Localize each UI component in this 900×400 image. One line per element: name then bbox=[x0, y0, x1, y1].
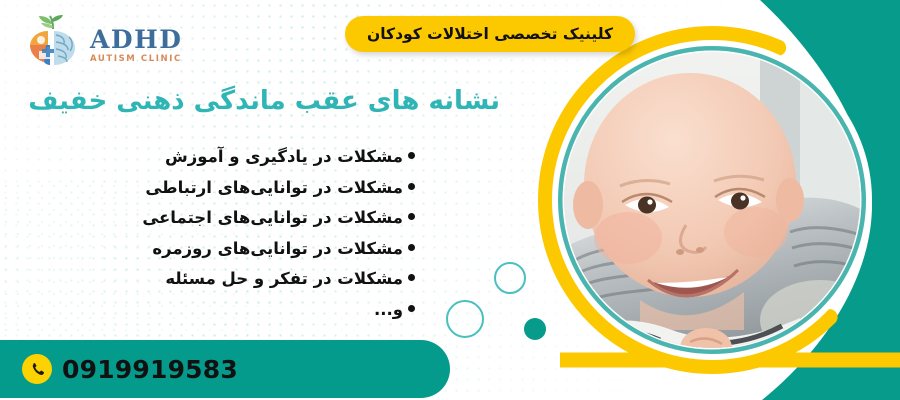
bullet-dot-icon bbox=[408, 213, 415, 220]
white-ring bbox=[555, 43, 869, 357]
brain-puzzle-sprout-icon bbox=[22, 15, 84, 75]
page-title: نشانه های عقب ماندگی ذهنی خفیف bbox=[28, 86, 500, 116]
list-item-label: مشکلات در تفکر و حل مسئله bbox=[165, 269, 403, 288]
list-item: مشکلات در یادگیری و آموزش bbox=[95, 142, 415, 173]
decorative-ring-large bbox=[446, 300, 484, 338]
phone-handset-icon bbox=[22, 354, 52, 384]
logo-title: ADHD bbox=[90, 27, 182, 52]
yellow-ring-arc bbox=[546, 34, 878, 366]
bullet-dot-icon bbox=[408, 305, 415, 312]
list-item-label: مشکلات در توانایی‌های ارتباطی bbox=[145, 178, 403, 197]
list-item: و... bbox=[95, 295, 415, 326]
clinic-badge: کلینیک تخصصی اختلالات کودکان bbox=[345, 16, 635, 52]
list-item: مشکلات در توانایی‌های روزمره bbox=[95, 234, 415, 265]
bullet-dot-icon bbox=[408, 244, 415, 251]
symptom-list: مشکلات در یادگیری و آموزش مشکلات در توان… bbox=[95, 142, 415, 325]
bullet-dot-icon bbox=[408, 183, 415, 190]
decorative-dot bbox=[524, 318, 546, 340]
teal-background-shape bbox=[760, 0, 900, 400]
list-item-label: مشکلات در یادگیری و آموزش bbox=[165, 147, 403, 166]
list-item: مشکلات در توانایی‌های ارتباطی bbox=[95, 173, 415, 204]
list-item: مشکلات در توانایی‌های اجتماعی bbox=[95, 203, 415, 234]
list-item-label: مشکلات در توانایی‌های روزمره bbox=[152, 239, 403, 258]
brand-logo[interactable]: ADHD AUTISM CLINIC bbox=[22, 14, 202, 76]
logo-subtitle: AUTISM CLINIC bbox=[90, 55, 182, 64]
contact-bar[interactable]: 0919919583 bbox=[0, 340, 450, 398]
phone-number: 0919919583 bbox=[62, 355, 238, 384]
decorative-ring-small bbox=[494, 262, 526, 294]
bullet-dot-icon bbox=[408, 152, 415, 159]
teal-inner-ring bbox=[560, 48, 864, 352]
bullet-dot-icon bbox=[408, 274, 415, 281]
promo-banner: ADHD AUTISM CLINIC کلینیک تخصصی اختلالات… bbox=[0, 0, 900, 400]
baby-photo bbox=[560, 45, 880, 368]
list-item: مشکلات در تفکر و حل مسئله bbox=[95, 264, 415, 295]
list-item-label: مشکلات در توانایی‌های اجتماعی bbox=[142, 208, 403, 227]
list-item-label: و... bbox=[374, 300, 403, 319]
